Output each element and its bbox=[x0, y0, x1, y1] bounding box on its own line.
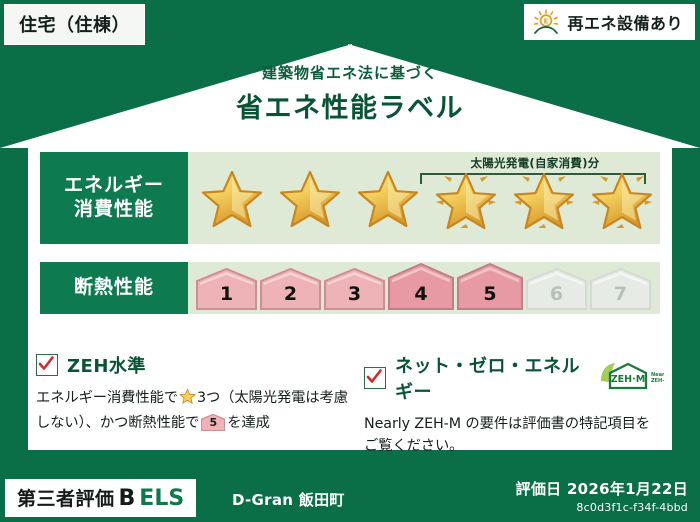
frame-left bbox=[0, 140, 28, 450]
inline-star-icon bbox=[179, 388, 196, 412]
insulation-level-badges: 1 2 3 bbox=[196, 262, 651, 314]
star-solar-icon bbox=[508, 164, 580, 236]
bels-certification-badge: 第三者評価 BELS bbox=[5, 479, 196, 517]
svg-text:E: E bbox=[544, 18, 549, 26]
net-zero-checkbox[interactable] bbox=[364, 367, 386, 389]
star-4-solar bbox=[428, 160, 504, 240]
badge-number: 6 bbox=[526, 283, 587, 305]
energy-performance-row: エネルギー 消費性能 太陽光発電(自家消費)分 bbox=[40, 152, 660, 244]
renewable-equipment-tag: E 再エネ設備あり bbox=[524, 4, 695, 40]
insulation-badge-5: 5 bbox=[457, 263, 523, 310]
zeh-standard-title: ZEH水準 bbox=[67, 352, 146, 378]
star-6-solar bbox=[584, 160, 660, 240]
inline-house-badge: 5 bbox=[201, 414, 225, 431]
star-rating bbox=[194, 160, 660, 240]
zeh-standard-checkbox[interactable] bbox=[36, 354, 58, 376]
title-subline: 建築物省エネ法に基づく bbox=[0, 62, 700, 83]
insulation-row-label: 断熱性能 bbox=[40, 262, 188, 314]
bels-logo-els: ELS bbox=[139, 486, 184, 511]
insulation-badge-2: 2 bbox=[260, 268, 321, 310]
star-solar-icon bbox=[586, 164, 658, 236]
zeh-m-house-logo: ZEH·M Nearly ZEH-M bbox=[598, 361, 664, 395]
svg-text:ZEH-M: ZEH-M bbox=[651, 378, 664, 384]
badge-number: 3 bbox=[324, 283, 385, 305]
bels-logo-b: B bbox=[119, 486, 136, 511]
net-zero-body: Nearly ZEH-M の要件は評価書の特記項目をご覧ください。 bbox=[364, 413, 664, 457]
insulation-badge-1: 1 bbox=[196, 268, 257, 310]
renewable-tag-label: 再エネ設備あり bbox=[567, 10, 683, 34]
insulation-performance-row: 断熱性能 1 2 bbox=[40, 262, 660, 314]
check-icon bbox=[38, 356, 54, 372]
energy-label-line1: エネルギー bbox=[64, 174, 164, 198]
insulation-badge-3: 3 bbox=[324, 268, 385, 310]
insulation-badge-4: 4 bbox=[388, 263, 454, 310]
net-zero-header: ネット・ゼロ・エネルギー ZEH·M Nearly ZEH-M bbox=[364, 352, 664, 404]
star-icon bbox=[355, 168, 421, 232]
certificate-uuid: 8c0d3f1c-f34f-4bbd bbox=[516, 501, 688, 514]
inline-badge-number: 5 bbox=[201, 414, 225, 431]
star-3 bbox=[350, 160, 426, 240]
insulation-row-value: 1 2 3 bbox=[188, 262, 660, 314]
property-name: D-Gran 飯田町 bbox=[232, 489, 345, 510]
zeh-body-part1: エネルギー消費性能で bbox=[36, 390, 178, 406]
badge-number: 4 bbox=[388, 283, 454, 305]
net-zero-title: ネット・ゼロ・エネルギー bbox=[395, 352, 584, 404]
svg-text:ZEH·M: ZEH·M bbox=[611, 374, 645, 385]
star-solar-icon bbox=[430, 164, 502, 236]
insulation-badge-7: 7 bbox=[590, 268, 651, 310]
energy-performance-label: 住宅（住棟） E 再エネ設備あり 建築物省エネ法に基づく 省エネ性能ラベル bbox=[0, 0, 700, 522]
net-zero-energy-info: ネット・ゼロ・エネルギー ZEH·M Nearly ZEH-M Nearly Z… bbox=[364, 352, 664, 457]
badge-number: 2 bbox=[260, 283, 321, 305]
title-mainline: 省エネ性能ラベル bbox=[0, 86, 700, 125]
star-1 bbox=[194, 160, 270, 240]
footer-meta: 評価日 2026年1月22日 8c0d3f1c-f34f-4bbd bbox=[516, 478, 688, 514]
energy-label-line2: 消費性能 bbox=[64, 198, 164, 222]
zeh-body-part3: を達成 bbox=[227, 415, 270, 431]
evaluation-date: 評価日 2026年1月22日 bbox=[516, 478, 688, 499]
label-title: 建築物省エネ法に基づく 省エネ性能ラベル bbox=[0, 62, 700, 125]
building-type-tag: 住宅（住棟） bbox=[4, 4, 145, 45]
insulation-badge-6: 6 bbox=[526, 268, 587, 310]
star-icon bbox=[277, 168, 343, 232]
star-2 bbox=[272, 160, 348, 240]
badge-number: 5 bbox=[457, 283, 523, 305]
energy-row-label: エネルギー 消費性能 bbox=[40, 152, 188, 244]
badge-number: 7 bbox=[590, 283, 651, 305]
zeh-standard-body: エネルギー消費性能で3つ（太陽光発電は考慮しない）、かつ断熱性能で5を達成 bbox=[36, 387, 351, 434]
check-icon bbox=[366, 369, 382, 385]
energy-row-value: 太陽光発電(自家消費)分 bbox=[188, 152, 660, 244]
badge-number: 1 bbox=[196, 283, 257, 305]
zeh-standard-info: ZEH水準 エネルギー消費性能で3つ（太陽光発電は考慮しない）、かつ断熱性能で5… bbox=[36, 352, 351, 434]
third-party-label: 第三者評価 bbox=[17, 484, 115, 511]
star-5-solar bbox=[506, 160, 582, 240]
sun-solar-icon: E bbox=[532, 9, 560, 35]
star-icon bbox=[199, 168, 265, 232]
zeh-standard-header: ZEH水準 bbox=[36, 352, 351, 378]
